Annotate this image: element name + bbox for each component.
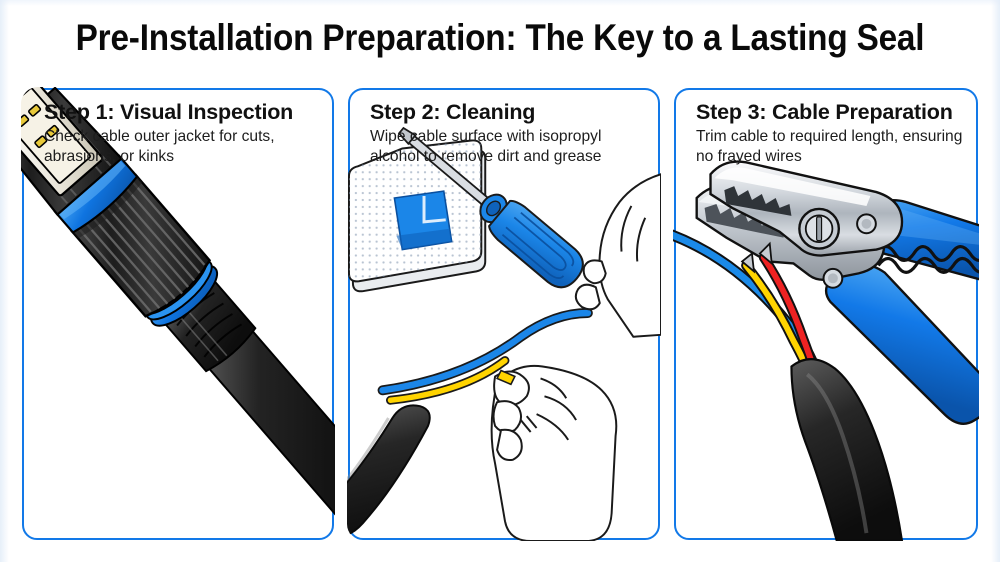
panel-3-head: Step 3: Cable Preparation Trim cable to … [696,99,966,167]
lower-hand-pinching-wire [492,366,617,541]
panel-3-description: Trim cable to required length, ensuring … [696,127,966,167]
pivot-screw [799,209,838,249]
screwdriver-handle [486,197,590,295]
yellow-wire-outline [390,361,505,401]
rivet-upper [857,214,876,233]
panel-3-title: Step 3: Cable Preparation [696,99,966,125]
blue-alcohol-patch [394,191,451,249]
panel-2-description: Wipe cable surface with isopropyl alcoho… [370,127,648,167]
panel-step-2: Step 2: Cleaning Wipe cable surface with… [348,88,660,540]
infographic-page: Pre-Installation Preparation: The Key to… [0,0,1000,562]
panel-1-description: Check cable outer jacket for cuts, abras… [44,127,322,167]
black-cable-jacket [347,405,430,536]
panel-2-head: Step 2: Cleaning Wipe cable surface with… [370,99,648,167]
page-title: Pre-Installation Preparation: The Key to… [50,18,950,58]
panel-1-head: Step 1: Visual Inspection Check cable ou… [44,99,322,167]
panel-2-title: Step 2: Cleaning [370,99,648,125]
panel-1-title: Step 1: Visual Inspection [44,99,322,125]
black-cable-jacket [791,359,902,541]
panel-step-1: Step 1: Visual Inspection Check cable ou… [22,88,334,540]
panel-step-3: Step 3: Cable Preparation Trim cable to … [674,88,978,540]
rivet-lower [824,269,843,288]
